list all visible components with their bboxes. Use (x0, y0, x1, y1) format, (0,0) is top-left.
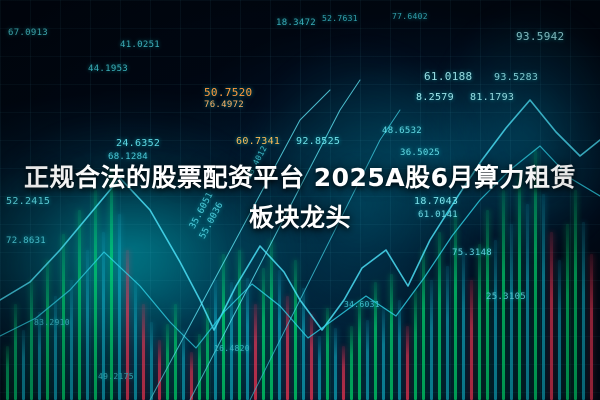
price-label: 34.6031 (344, 300, 380, 309)
price-label: 44.1953 (88, 64, 128, 74)
price-label: 93.5283 (494, 72, 538, 83)
price-label: 36.5025 (400, 148, 440, 158)
price-label: 60.7341 (236, 136, 280, 147)
price-label: 41.0251 (120, 40, 160, 50)
price-label: 16.4820 (214, 344, 250, 353)
price-label: 18.3472 (276, 18, 316, 28)
price-label: 8.2579 (416, 92, 454, 103)
price-label: 92.8525 (296, 136, 340, 147)
price-label: 76.4972 (204, 100, 244, 110)
price-label: 24.6352 (116, 138, 160, 149)
diagonal-beam-c (250, 110, 400, 400)
price-label: 93.5942 (516, 30, 564, 43)
price-label: 52.7631 (322, 14, 358, 23)
price-label: 50.7520 (204, 86, 252, 99)
headline-line-1: 正规合法的股票配资平台 2025A股6月算力租赁 (24, 163, 576, 192)
price-label: 48.6532 (382, 126, 422, 136)
headline-line-2: 板块龙头 (0, 198, 600, 238)
price-label: 77.6402 (392, 12, 428, 21)
price-label: 81.1793 (470, 92, 514, 103)
price-label: 67.0913 (8, 28, 48, 38)
price-label: 83.2910 (34, 318, 70, 327)
stock-chart-banner: 93.594267.091341.025118.347252.763177.64… (0, 0, 600, 400)
price-label: 49.2175 (98, 372, 134, 381)
price-label: 25.3105 (486, 292, 526, 302)
price-label: 75.3148 (452, 248, 492, 258)
price-label: 61.0188 (424, 70, 472, 83)
headline: 正规合法的股票配资平台 2025A股6月算力租赁 板块龙头 (0, 158, 600, 238)
